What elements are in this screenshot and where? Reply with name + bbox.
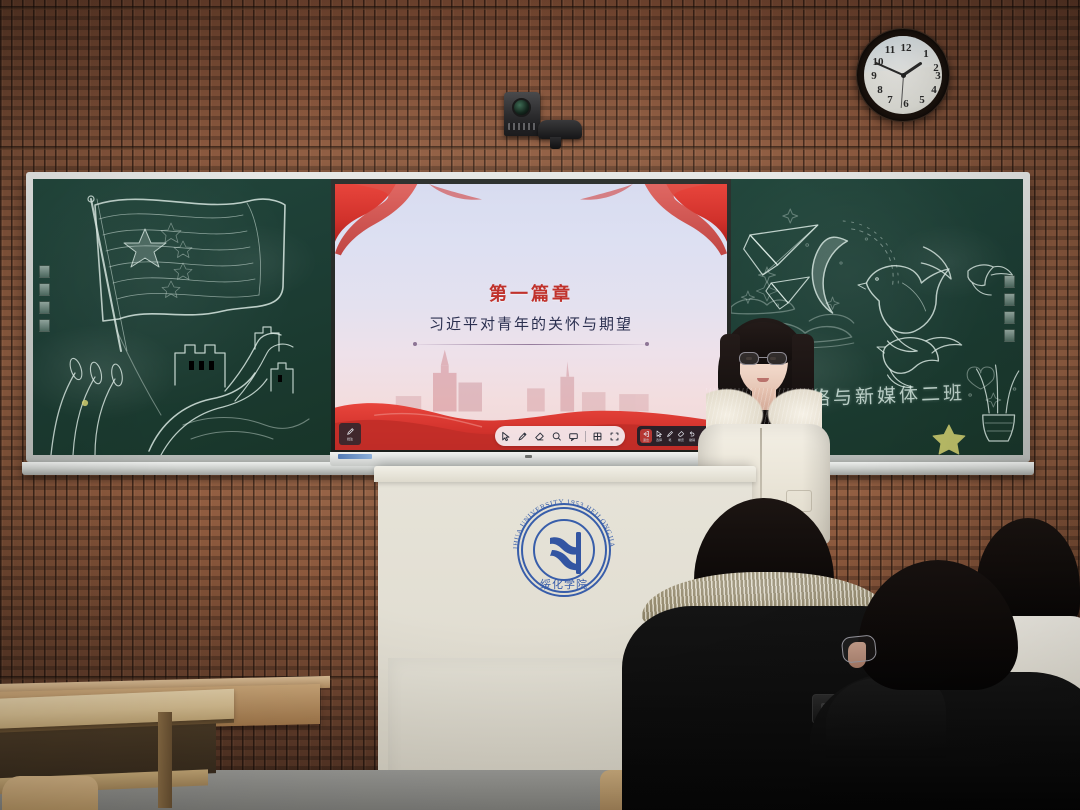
select-button[interactable]: 选择 bbox=[655, 430, 663, 442]
select-label: 选择 bbox=[656, 438, 662, 442]
screenshot-tool[interactable] bbox=[609, 431, 620, 442]
annotate-corner-button[interactable]: 批注 bbox=[339, 423, 361, 445]
sparkles-icon bbox=[741, 209, 867, 309]
eraser-button[interactable]: 橡皮 bbox=[677, 430, 685, 442]
dove-small-right-icon bbox=[968, 265, 1012, 295]
wheat-stalks-icon bbox=[51, 357, 124, 455]
blackboard-inner: 第一篇章 习近平对青年的关怀与期望 批注 bbox=[33, 179, 1023, 455]
exit-button[interactable]: 退出 bbox=[640, 429, 652, 443]
annotate-corner-label: 批注 bbox=[347, 437, 353, 441]
left-chalkboard bbox=[33, 179, 331, 455]
clock-number-8: 8 bbox=[872, 84, 888, 96]
clock-number-12: 12 bbox=[898, 42, 914, 54]
screenshot-icon bbox=[609, 431, 620, 442]
glasses-lens-left bbox=[739, 352, 759, 365]
pen-icon bbox=[666, 430, 674, 438]
smartboard-screen[interactable]: 第一篇章 习近平对青年的关怀与期望 批注 bbox=[335, 184, 727, 450]
eraser-icon bbox=[534, 431, 545, 442]
lasso-icon bbox=[551, 431, 562, 442]
desk-leg bbox=[158, 712, 172, 808]
eraser-tool[interactable] bbox=[534, 431, 545, 442]
cursor-tool[interactable] bbox=[500, 431, 511, 442]
waving-flag-icon bbox=[95, 199, 285, 321]
clock-center-pin bbox=[901, 73, 906, 78]
lasso-select-tool[interactable] bbox=[551, 431, 562, 442]
audience-2-hood bbox=[826, 678, 946, 758]
shape-tool[interactable] bbox=[568, 431, 579, 442]
great-wall-icon bbox=[149, 327, 309, 455]
emblem-svg: SUIHUA UNIVERSITY 1953 HEILONGJIANG 绥化学院 bbox=[500, 492, 628, 604]
glasses-bridge bbox=[759, 357, 767, 358]
emblem-chinese-name: 绥化学院 bbox=[540, 577, 588, 591]
cursor-icon bbox=[500, 431, 511, 442]
paper-plane-icon bbox=[744, 225, 818, 275]
camera-mount-arm bbox=[538, 120, 582, 139]
foreground-chair bbox=[2, 776, 98, 810]
dove-large-icon bbox=[858, 247, 951, 352]
flag-swoosh bbox=[117, 331, 161, 415]
ceiling-camera bbox=[504, 92, 540, 136]
wall-clock: 12 1 2 3 4 5 6 7 8 9 10 11 bbox=[856, 28, 950, 122]
clock-number-1: 1 bbox=[918, 48, 934, 60]
pen-button[interactable]: 笔 bbox=[666, 430, 674, 442]
camera-lens-icon bbox=[512, 98, 531, 117]
clock-number-9: 9 bbox=[866, 70, 882, 82]
presenter-glasses bbox=[738, 352, 788, 366]
shape-icon bbox=[568, 431, 579, 442]
eraser-icon bbox=[677, 430, 685, 438]
glasses-lens-right bbox=[767, 352, 787, 365]
exit-icon bbox=[642, 430, 650, 438]
audience-member-2 bbox=[846, 560, 1080, 810]
pen-holder-icon bbox=[967, 365, 1019, 441]
slide-subtitle: 习近平对青年的关怀与期望 bbox=[335, 313, 727, 334]
blackboard-assembly: 第一篇章 习近平对青年的关怀与期望 批注 bbox=[26, 172, 1030, 462]
slide-chapter-title: 第一篇章 bbox=[335, 280, 727, 306]
audience-2-head bbox=[858, 560, 1018, 690]
annotation-toolbar-light[interactable] bbox=[495, 426, 625, 446]
smartboard-screen-bezel: 第一篇章 习近平对青年的关怀与期望 批注 bbox=[331, 179, 731, 455]
classroom-scene: 12 1 2 3 4 5 6 7 8 9 10 11 bbox=[0, 0, 1080, 810]
audience-2-glasses bbox=[841, 634, 878, 663]
clock-number-3: 3 bbox=[930, 70, 942, 82]
emblem-mark-icon bbox=[550, 532, 581, 574]
pen-tool[interactable] bbox=[517, 431, 528, 442]
select-icon bbox=[655, 430, 663, 438]
ir-receiver bbox=[525, 455, 532, 458]
flag-pole-icon bbox=[88, 196, 127, 351]
grid-tool[interactable] bbox=[592, 431, 603, 442]
clock-face: 12 1 2 3 4 5 6 7 8 9 10 11 bbox=[864, 36, 942, 114]
slide-divider-rule bbox=[417, 344, 644, 345]
star-icon bbox=[933, 425, 965, 454]
clock-number-5: 5 bbox=[914, 94, 930, 106]
pen-icon bbox=[346, 427, 355, 436]
pen-icon bbox=[517, 431, 528, 442]
smartboard-chin bbox=[330, 452, 726, 466]
university-emblem: SUIHUA UNIVERSITY 1953 HEILONGJIANG 绥化学院 bbox=[500, 492, 628, 604]
pen-label: 笔 bbox=[668, 438, 671, 442]
podium-top-surface bbox=[374, 466, 756, 482]
camera-vent bbox=[508, 123, 536, 130]
grid-icon bbox=[592, 431, 603, 442]
exit-label: 退出 bbox=[643, 438, 649, 442]
smartboard-brand-logo bbox=[338, 454, 372, 459]
left-chalk-art bbox=[33, 179, 331, 455]
toolbar-separator bbox=[585, 431, 586, 442]
eraser-label: 橡皮 bbox=[678, 438, 684, 442]
clock-number-11: 11 bbox=[882, 44, 898, 56]
